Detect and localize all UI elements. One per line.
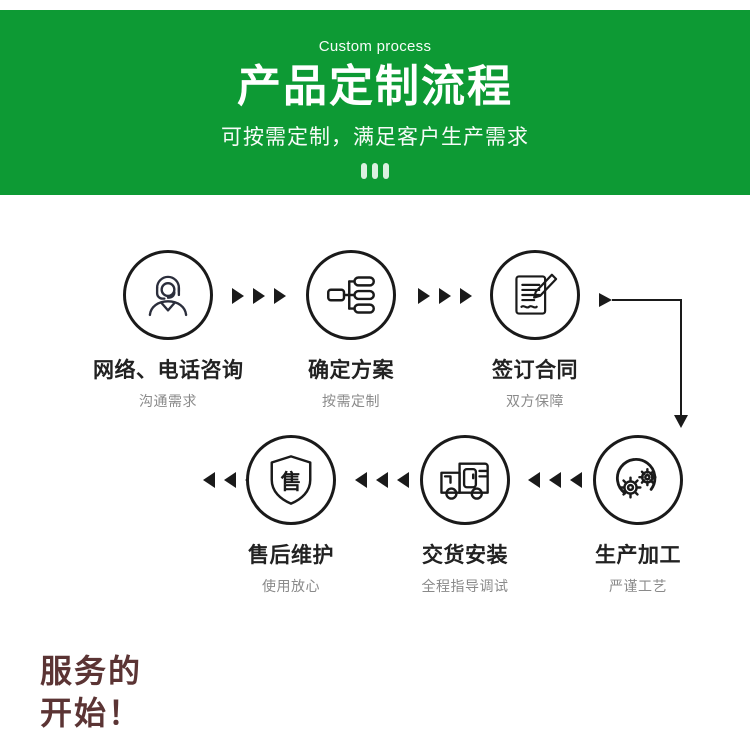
triangle-down-icon xyxy=(674,415,688,428)
step-delivery-sub: 全程指导调试 xyxy=(390,576,540,596)
triangle-left-icon xyxy=(549,472,561,488)
page-title: 产品定制流程 xyxy=(237,61,513,113)
triangle-right-icon xyxy=(253,288,265,304)
step-consult-title: 网络、电话咨询 xyxy=(93,354,243,384)
triangle-right-icon xyxy=(232,288,244,304)
step-consult-sub: 沟通需求 xyxy=(93,391,243,411)
triangle-left-icon xyxy=(376,472,388,488)
shield-shou-icon: 售 xyxy=(263,452,319,508)
banner-eyebrow: Custom process xyxy=(319,38,432,55)
decor-bar-1 xyxy=(361,163,367,179)
step-delivery[interactable]: 交货安装 全程指导调试 xyxy=(390,435,540,596)
service-start-line2: 开始！ xyxy=(40,692,220,734)
step-plan[interactable]: 确定方案 按需定制 xyxy=(276,250,426,411)
step-consult[interactable]: 网络、电话咨询 沟通需求 xyxy=(93,250,243,411)
step-aftersales-sub: 使用放心 xyxy=(216,576,366,596)
step-contract-circle xyxy=(490,250,580,340)
step-aftersales-circle: 售 xyxy=(246,435,336,525)
step-plan-circle xyxy=(306,250,396,340)
service-start-callout: 服务的 开始！ xyxy=(40,650,220,734)
gears-icon xyxy=(608,450,668,510)
decor-bar-2 xyxy=(372,163,378,179)
step-contract-sub: 双方保障 xyxy=(460,391,610,411)
triangle-right-icon xyxy=(439,288,451,304)
triangle-right-icon xyxy=(418,288,430,304)
delivery-truck-icon xyxy=(436,451,494,509)
headset-person-icon xyxy=(139,266,197,324)
step-production-circle xyxy=(593,435,683,525)
decor-bar-3 xyxy=(383,163,389,179)
step-production[interactable]: 生产加工 严谨工艺 xyxy=(563,435,713,596)
step-delivery-circle xyxy=(420,435,510,525)
step-consult-circle xyxy=(123,250,213,340)
triangle-right-icon xyxy=(599,293,612,307)
triangle-left-icon xyxy=(355,472,367,488)
header-banner: Custom process 产品定制流程 可按需定制，满足客户生产需求 xyxy=(0,10,750,195)
connector-vertical-line xyxy=(680,299,682,417)
shield-label: 售 xyxy=(263,452,319,508)
step-plan-sub: 按需定制 xyxy=(276,391,426,411)
flowchart-icon xyxy=(323,267,379,323)
banner-subtitle: 可按需定制，满足客户生产需求 xyxy=(221,121,529,151)
connector-horizontal-line xyxy=(612,299,682,301)
step-delivery-title: 交货安装 xyxy=(390,539,540,569)
step-aftersales[interactable]: 售 售后维护 使用放心 xyxy=(216,435,366,596)
step-aftersales-title: 售后维护 xyxy=(216,539,366,569)
step-contract-title: 签订合同 xyxy=(460,354,610,384)
document-pen-icon xyxy=(508,268,562,322)
step-production-title: 生产加工 xyxy=(563,539,713,569)
process-flow: 网络、电话咨询 沟通需求 确定方案 xyxy=(0,195,750,634)
step-contract[interactable]: 签订合同 双方保障 xyxy=(460,250,610,411)
triangle-left-icon xyxy=(528,472,540,488)
banner-decor-bars xyxy=(361,163,389,179)
connector-contract-to-production xyxy=(599,293,699,433)
service-start-line1: 服务的 xyxy=(40,650,220,692)
step-production-sub: 严谨工艺 xyxy=(563,576,713,596)
step-plan-title: 确定方案 xyxy=(276,354,426,384)
triangle-left-icon xyxy=(203,472,215,488)
